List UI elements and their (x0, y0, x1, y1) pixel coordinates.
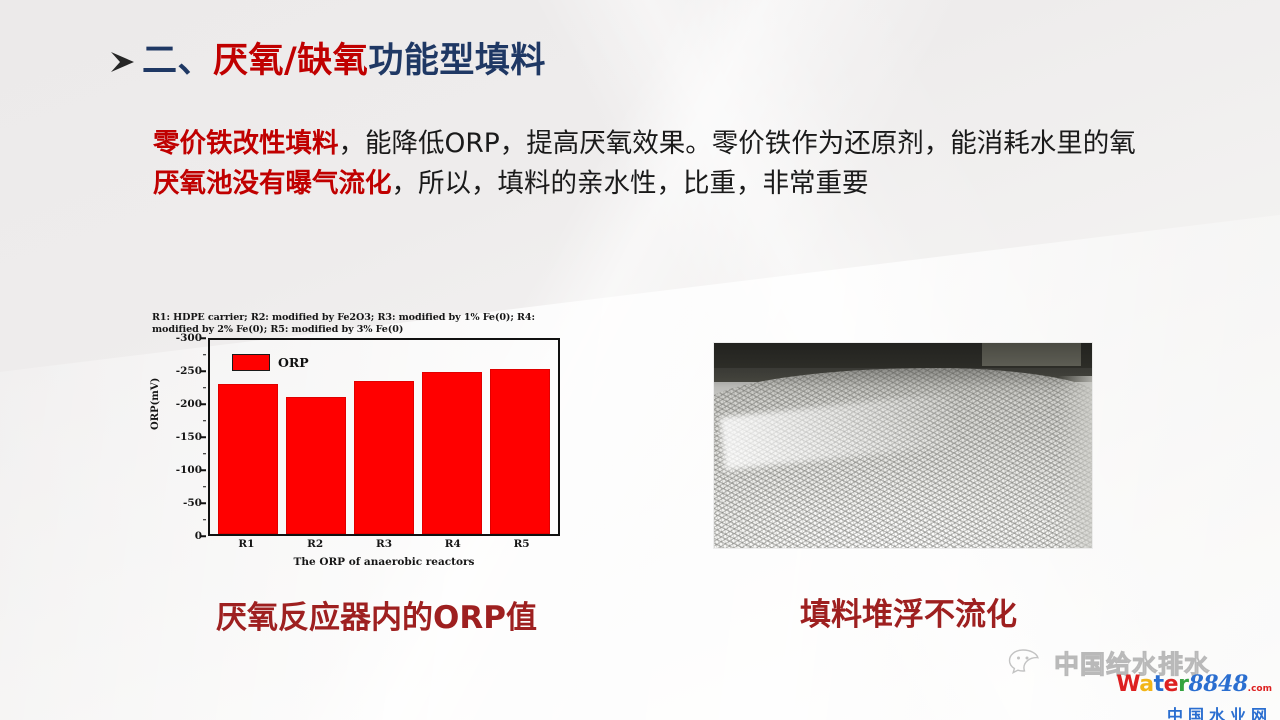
floating-media-tank-photo (714, 343, 1092, 548)
chart-y-ticks: 0-50-100-150-200-250-300 (166, 338, 206, 536)
chart-y-tick-mark (201, 469, 206, 471)
chart-plot-area: ORP (208, 338, 560, 536)
logo-number: 8848 (1188, 671, 1247, 697)
chart-y-axis-label: ORP(mV) (150, 378, 161, 430)
chart-y-tick-label: -300 (176, 332, 202, 344)
chart-y-minor-tick (203, 354, 206, 356)
chart-x-tick-label: R1 (212, 538, 281, 550)
chart-bar-r3 (354, 381, 414, 534)
orp-bar-chart: R1: HDPE carrier; R2: modified by Fe2O3;… (152, 312, 582, 574)
photo-right-edge (1058, 376, 1092, 548)
title-part-highlight: 厌氧/缺氧 (213, 44, 368, 79)
watermark: 中国给水排水 Water8848.com 中国水业网 (1008, 643, 1274, 715)
chart-x-axis-label: The ORP of anaerobic reactors (208, 556, 560, 568)
chart-x-ticks: R1R2R3R4R5 (208, 538, 560, 550)
body-line2-text: 能消耗水里的氧 (950, 128, 1136, 159)
body-line3-highlight: 厌氧池没有曝气流化 (153, 168, 392, 199)
watermark-logo-block: Water8848.com 中国水业网 (1116, 673, 1272, 720)
chart-x-tick-label: R5 (487, 538, 556, 550)
chart-y-tick-mark (201, 403, 206, 405)
chart-y-minor-tick (203, 420, 206, 422)
chart-bar-r4 (422, 372, 482, 534)
chart-x-tick-label: R3 (350, 538, 419, 550)
chart-bar-slot (418, 340, 486, 534)
chart-y-tick-label: -150 (176, 431, 202, 443)
title-part-number: 二、 (142, 44, 213, 79)
legend-swatch-orp (232, 354, 270, 371)
logo-tld: .com (1248, 684, 1272, 694)
chart-y-tick-mark (201, 502, 206, 504)
wechat-icon (1008, 647, 1048, 679)
logo-letter-a: a (1139, 672, 1153, 697)
chart-y-tick-label: -250 (176, 365, 202, 377)
chart-bar-r2 (286, 397, 346, 534)
body-paragraph: 零价铁改性填料，能降低ORP，提高厌氧效果。零价铁作为还原剂，能消耗水里的氧 厌… (75, 124, 1235, 204)
chart-bar-slot (486, 340, 554, 534)
logo-letter-e: e (1164, 672, 1178, 697)
logo-letter-t: t (1154, 672, 1164, 697)
caption-right: 填料堆浮不流化 (800, 589, 1017, 634)
chart-y-minor-tick (203, 486, 206, 488)
chart-y-tick-label: -50 (183, 497, 202, 509)
chart-bar-slot (350, 340, 418, 534)
chart-bar-r5 (490, 369, 550, 534)
caption-left: 厌氧反应器内的ORP值 (216, 592, 537, 637)
chart-x-tick-label: R4 (418, 538, 487, 550)
chart-y-minor-tick (203, 387, 206, 389)
chart-y-tick-label: -200 (176, 398, 202, 410)
photo-media-shadow (714, 368, 1092, 401)
body-line3: 厌氧池没有曝气流化，所以，填料的亲水性，比重，非常重要 (75, 164, 1235, 204)
chart-y-minor-tick (203, 453, 206, 455)
logo-letter-r: r (1178, 672, 1188, 697)
slide-canvas: 二、 厌氧/缺氧 功能型填料 零价铁改性填料，能降低ORP，提高厌氧效果。零价铁… (0, 0, 1280, 720)
watermark-subtitle: 中国水业网 (1116, 702, 1272, 720)
chart-plot-wrapper: ORP(mV) 0-50-100-150-200-250-300 ORP R1R… (152, 338, 572, 574)
chart-note: R1: HDPE carrier; R2: modified by Fe2O3;… (152, 312, 572, 336)
logo-letter-w: W (1116, 672, 1139, 697)
legend-label-orp: ORP (278, 355, 309, 370)
chart-y-tick-mark (201, 370, 206, 372)
chart-y-tick-mark (201, 535, 206, 537)
watermark-logo: Water8848.com (1116, 673, 1272, 700)
body-line1-text: ，能降低ORP，提高厌氧效果。零价铁作为还原剂， (339, 128, 951, 159)
body-line1-highlight: 零价铁改性填料 (153, 128, 339, 159)
title-part-main: 功能型填料 (368, 44, 546, 79)
chart-bar-r1 (218, 384, 278, 534)
arrow-bullet-icon (108, 47, 138, 77)
slide-title: 二、 厌氧/缺氧 功能型填料 (108, 44, 546, 79)
chart-y-tick-mark (201, 337, 206, 339)
chart-legend: ORP (232, 354, 309, 371)
chart-y-tick-label: -100 (176, 464, 202, 476)
body-line3-text: ，所以，填料的亲水性，比重，非常重要 (392, 168, 869, 199)
chart-y-minor-tick (203, 519, 206, 521)
chart-x-tick-label: R2 (281, 538, 350, 550)
chart-y-tick-mark (201, 436, 206, 438)
